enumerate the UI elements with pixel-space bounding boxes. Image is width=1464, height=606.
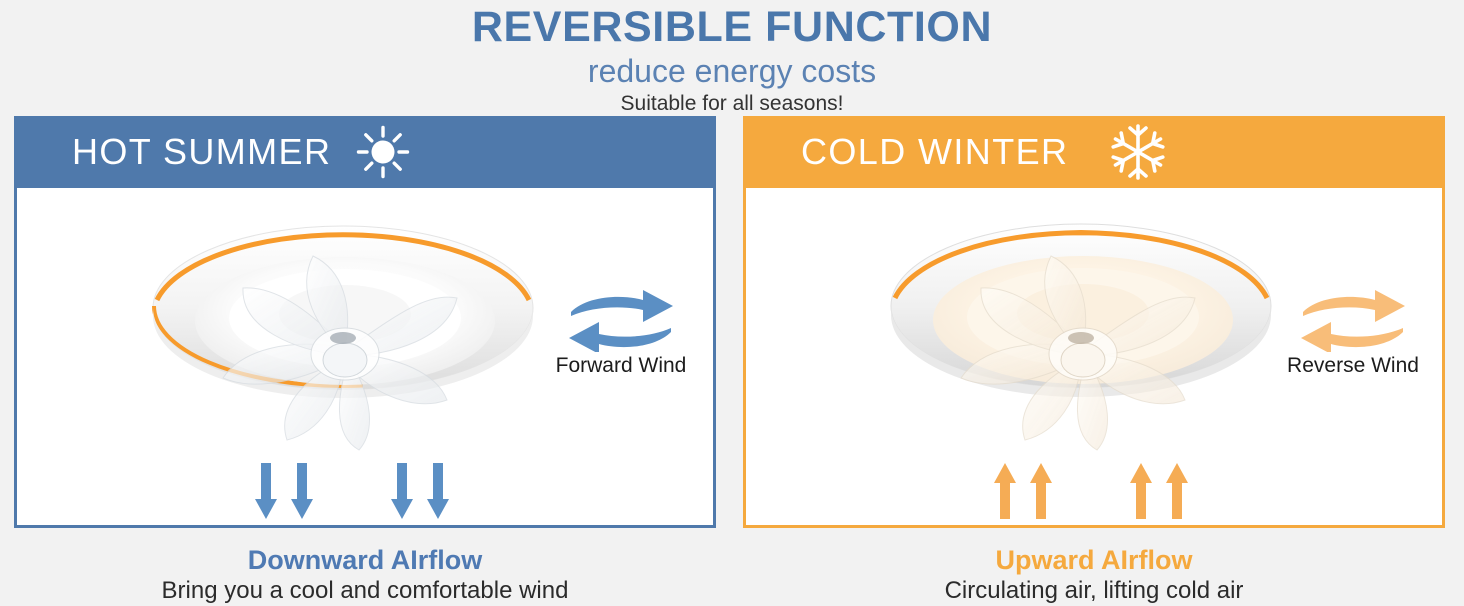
panel-body-hot-summer: Forward Wind [14, 188, 716, 528]
down-arrow-icon [427, 463, 449, 519]
sun-icon [353, 122, 413, 182]
ceiling-fan-illustration-winter [876, 188, 1316, 458]
down-arrow-icon [255, 463, 277, 519]
down-arrow-icon [391, 463, 413, 519]
panel-cold-winter: COLD WINTER [743, 116, 1445, 600]
forward-wind-label: Forward Wind [535, 354, 707, 378]
panel-caption-hot-summer: Downward AIrflow Bring you a cool and co… [14, 528, 716, 606]
page-tagline: Suitable for all seasons! [0, 90, 1464, 117]
snowflake-icon [1108, 122, 1168, 182]
airflow-arrow-group-left [255, 463, 313, 519]
airflow-title-downward: Downward AIrflow [14, 544, 716, 576]
airflow-arrow-group-left [994, 463, 1052, 519]
page-title: REVERSIBLE FUNCTION [0, 2, 1464, 52]
airflow-arrow-group-right [1130, 463, 1188, 519]
ceiling-fan-illustration-summer [123, 188, 563, 458]
panel-header-cold-winter: COLD WINTER [743, 116, 1445, 188]
down-arrow-icon [291, 463, 313, 519]
reverse-wind-arrows-icon [1264, 288, 1442, 354]
up-arrow-icon [1166, 463, 1188, 519]
page-header: REVERSIBLE FUNCTION reduce energy costs … [0, 0, 1464, 117]
panel-caption-cold-winter: Upward AIrflow Circulating air, lifting … [743, 528, 1445, 606]
panel-hot-summer: HOT SUMMER [14, 116, 716, 600]
forward-wind-arrows-icon [535, 288, 707, 354]
reverse-wind-indicator: Reverse Wind [1264, 288, 1442, 378]
up-arrow-icon [1130, 463, 1152, 519]
airflow-description-upward: Circulating air, lifting cold air [743, 576, 1445, 606]
up-arrow-icon [994, 463, 1016, 519]
upward-airflow-arrows [874, 457, 1214, 519]
panel-title-cold-winter: COLD WINTER [801, 131, 1068, 173]
forward-wind-indicator: Forward Wind [535, 288, 707, 378]
downward-airflow-arrows [145, 457, 485, 519]
panel-title-hot-summer: HOT SUMMER [72, 131, 331, 173]
airflow-description-downward: Bring you a cool and comfortable wind [14, 576, 716, 606]
airflow-arrow-group-right [391, 463, 449, 519]
reverse-wind-label: Reverse Wind [1264, 354, 1442, 378]
panel-header-hot-summer: HOT SUMMER [14, 116, 716, 188]
panel-body-cold-winter: Reverse Wind [743, 188, 1445, 528]
airflow-title-upward: Upward AIrflow [743, 544, 1445, 576]
page-subtitle: reduce energy costs [0, 52, 1464, 90]
up-arrow-icon [1030, 463, 1052, 519]
comparison-panels: HOT SUMMER [0, 116, 1464, 600]
